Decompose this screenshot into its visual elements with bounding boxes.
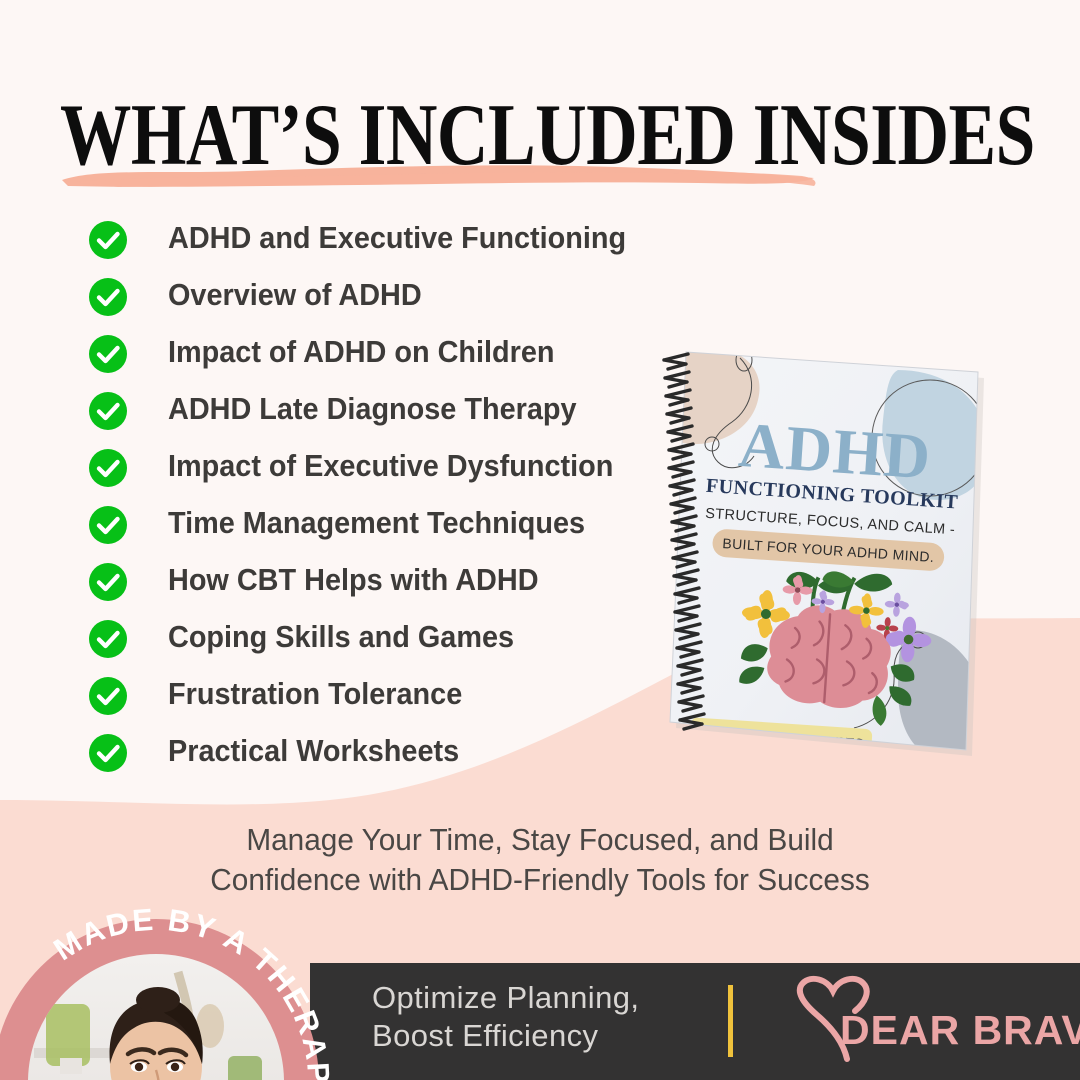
subtitle-line-2: Confidence with ADHD-Friendly Tools for … (22, 860, 1059, 900)
check-circle-icon (88, 505, 128, 545)
footer-tagline-line-1: Optimize Planning, (372, 979, 639, 1017)
promotional-poster: WHAT’S INCLUDED INSIDES ADHD and Executi… (0, 0, 1080, 1080)
check-circle-icon (88, 448, 128, 488)
footer-tagline-line-2: Boost Efficiency (372, 1017, 639, 1055)
product-mockup: ADHD FUNCTIONING TOOLKIT STRUCTURE, FOCU… (648, 330, 1008, 780)
list-item-label: How CBT Helps with ADHD (168, 558, 539, 602)
brand-logo[interactable]: DEAR BRAVE (755, 971, 1055, 1071)
subtitle-line-1: Manage Your Time, Stay Focused, and Buil… (22, 820, 1059, 860)
therapist-badge: MADE BY A THERAPIST (0, 908, 330, 1080)
list-item-label: Impact of Executive Dysfunction (168, 444, 613, 488)
list-item-label: ADHD and Executive Functioning (168, 216, 626, 260)
footer-tagline: Optimize Planning, Boost Efficiency (372, 979, 639, 1055)
list-item-label: Coping Skills and Games (168, 615, 514, 659)
check-circle-icon (88, 391, 128, 431)
check-circle-icon (88, 733, 128, 773)
check-circle-icon (88, 676, 128, 716)
check-circle-icon (88, 277, 128, 317)
list-item-label: Time Management Techniques (168, 501, 585, 545)
check-circle-icon (88, 220, 128, 260)
check-circle-icon (88, 619, 128, 659)
subtitle: Manage Your Time, Stay Focused, and Buil… (22, 820, 1059, 900)
list-item-label: ADHD Late Diagnose Therapy (168, 387, 577, 431)
list-item-label: Practical Worksheets (168, 729, 459, 773)
list-item-label: Impact of ADHD on Children (168, 330, 555, 374)
check-circle-icon (88, 334, 128, 374)
brand-name: DEAR BRAVE (840, 1007, 1080, 1054)
footer-divider (728, 985, 733, 1057)
footer-bar: Optimize Planning, Boost Efficiency DEAR… (310, 963, 1080, 1080)
check-circle-icon (88, 562, 128, 602)
title-underline-brushstroke (58, 158, 820, 192)
list-item-label: Overview of ADHD (168, 273, 422, 317)
list-item-label: Frustration Tolerance (168, 672, 462, 716)
